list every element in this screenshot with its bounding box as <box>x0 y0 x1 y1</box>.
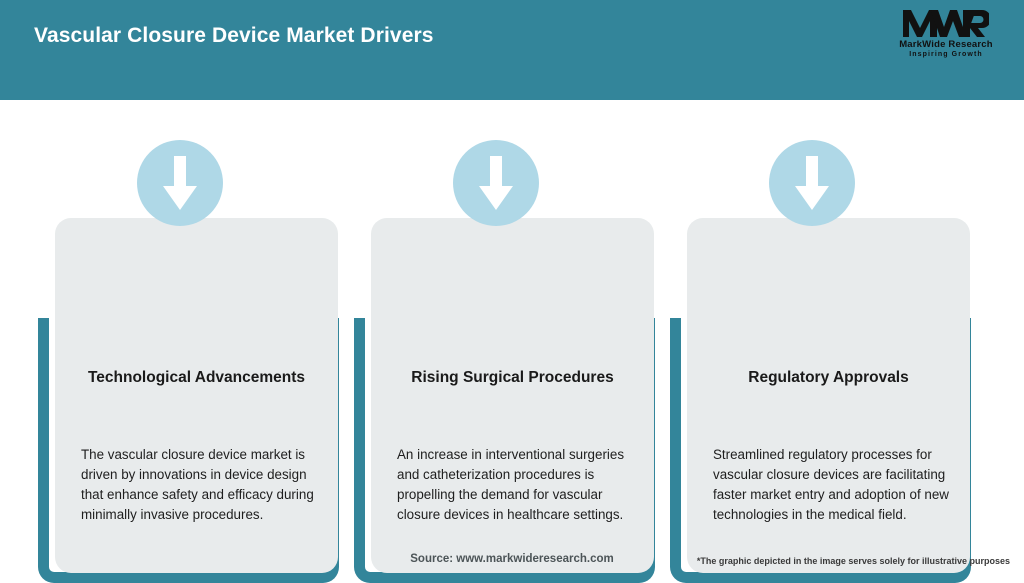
logo-mark-icon <box>886 8 1006 38</box>
down-arrow-icon <box>453 140 539 226</box>
driver-card[interactable]: Technological Advancements The vascular … <box>38 140 354 545</box>
card-heading: Rising Surgical Procedures <box>383 368 642 387</box>
driver-card[interactable]: Regulatory Approvals Streamlined regulat… <box>670 140 986 545</box>
card-heading: Technological Advancements <box>67 368 326 387</box>
page-title: Vascular Closure Device Market Drivers <box>34 24 434 48</box>
card-panel: Regulatory Approvals Streamlined regulat… <box>687 218 970 573</box>
logo-company-name: MarkWide Research <box>886 39 1006 50</box>
card-panel: Rising Surgical Procedures An increase i… <box>371 218 654 573</box>
card-panel: Technological Advancements The vascular … <box>55 218 338 573</box>
card-body-text: An increase in interventional surgeries … <box>397 445 645 525</box>
disclaimer-label: *The graphic depicted in the image serve… <box>697 556 1010 566</box>
card-body-text: The vascular closure device market is dr… <box>81 445 329 525</box>
down-arrow-icon <box>769 140 855 226</box>
drivers-card-group: Technological Advancements The vascular … <box>0 100 1024 540</box>
driver-card[interactable]: Rising Surgical Procedures An increase i… <box>354 140 670 545</box>
down-arrow-icon <box>137 140 223 226</box>
card-body-text: Streamlined regulatory processes for vas… <box>713 445 961 525</box>
brand-logo: MarkWide Research Inspiring Growth <box>886 8 1006 70</box>
logo-tagline: Inspiring Growth <box>886 50 1006 59</box>
header-bar: Vascular Closure Device Market Drivers M… <box>0 0 1024 100</box>
card-heading: Regulatory Approvals <box>699 368 958 387</box>
